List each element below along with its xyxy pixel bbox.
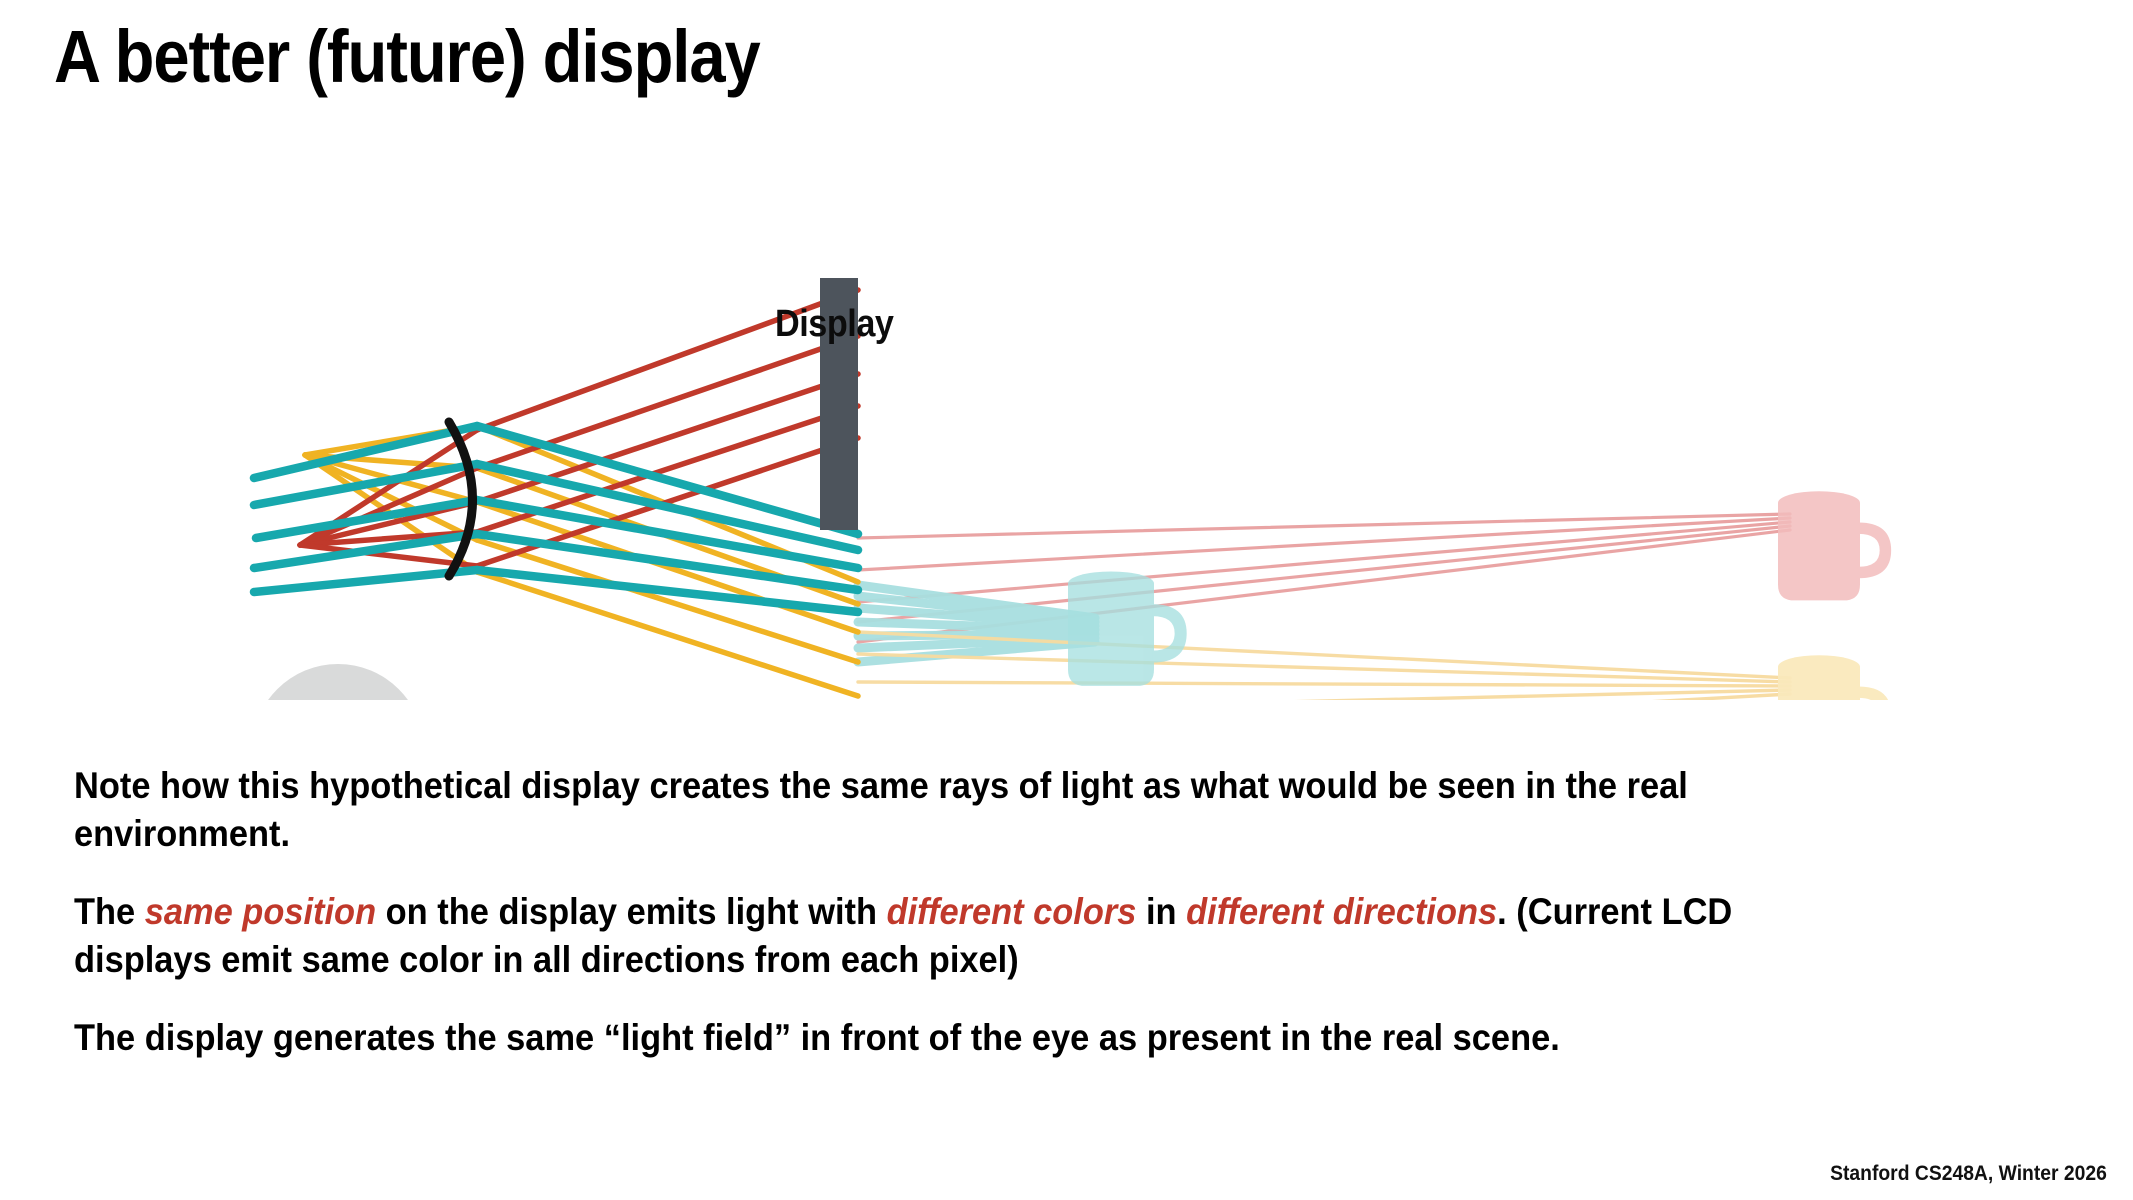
virtual-teal-rays xyxy=(858,585,1095,662)
paragraph-2: The same position on the display emits l… xyxy=(74,888,1841,984)
mug-far-yellow xyxy=(1778,655,1891,700)
light-field-diagram xyxy=(0,250,2133,700)
slide-footer: Stanford CS248A, Winter 2026 xyxy=(1830,1162,2107,1186)
paragraph-1: Note how this hypothetical display creat… xyxy=(74,762,1841,858)
p2-highlight-different-colors: different colors xyxy=(887,891,1137,932)
display-label: Display xyxy=(775,303,894,346)
paragraph-3: The display generates the same “light fi… xyxy=(74,1014,1841,1062)
body-text: Note how this hypothetical display creat… xyxy=(74,762,1974,1062)
mug-far-pink xyxy=(1778,491,1891,600)
page-title: A better (future) display xyxy=(54,18,760,96)
paragraph-3-text: The display generates the same “light fi… xyxy=(74,1017,1560,1058)
real-teal-rays xyxy=(254,426,858,612)
p2-mid-1: on the display emits light with xyxy=(376,891,886,932)
p2-highlight-different-directions: different directions xyxy=(1186,891,1497,932)
p2-lead: The xyxy=(74,891,145,932)
p2-mid-2: in xyxy=(1136,891,1186,932)
paragraph-1-text: Note how this hypothetical display creat… xyxy=(74,765,1688,854)
eyeball-circle xyxy=(252,664,424,700)
p2-highlight-same-position: same position xyxy=(145,891,376,932)
